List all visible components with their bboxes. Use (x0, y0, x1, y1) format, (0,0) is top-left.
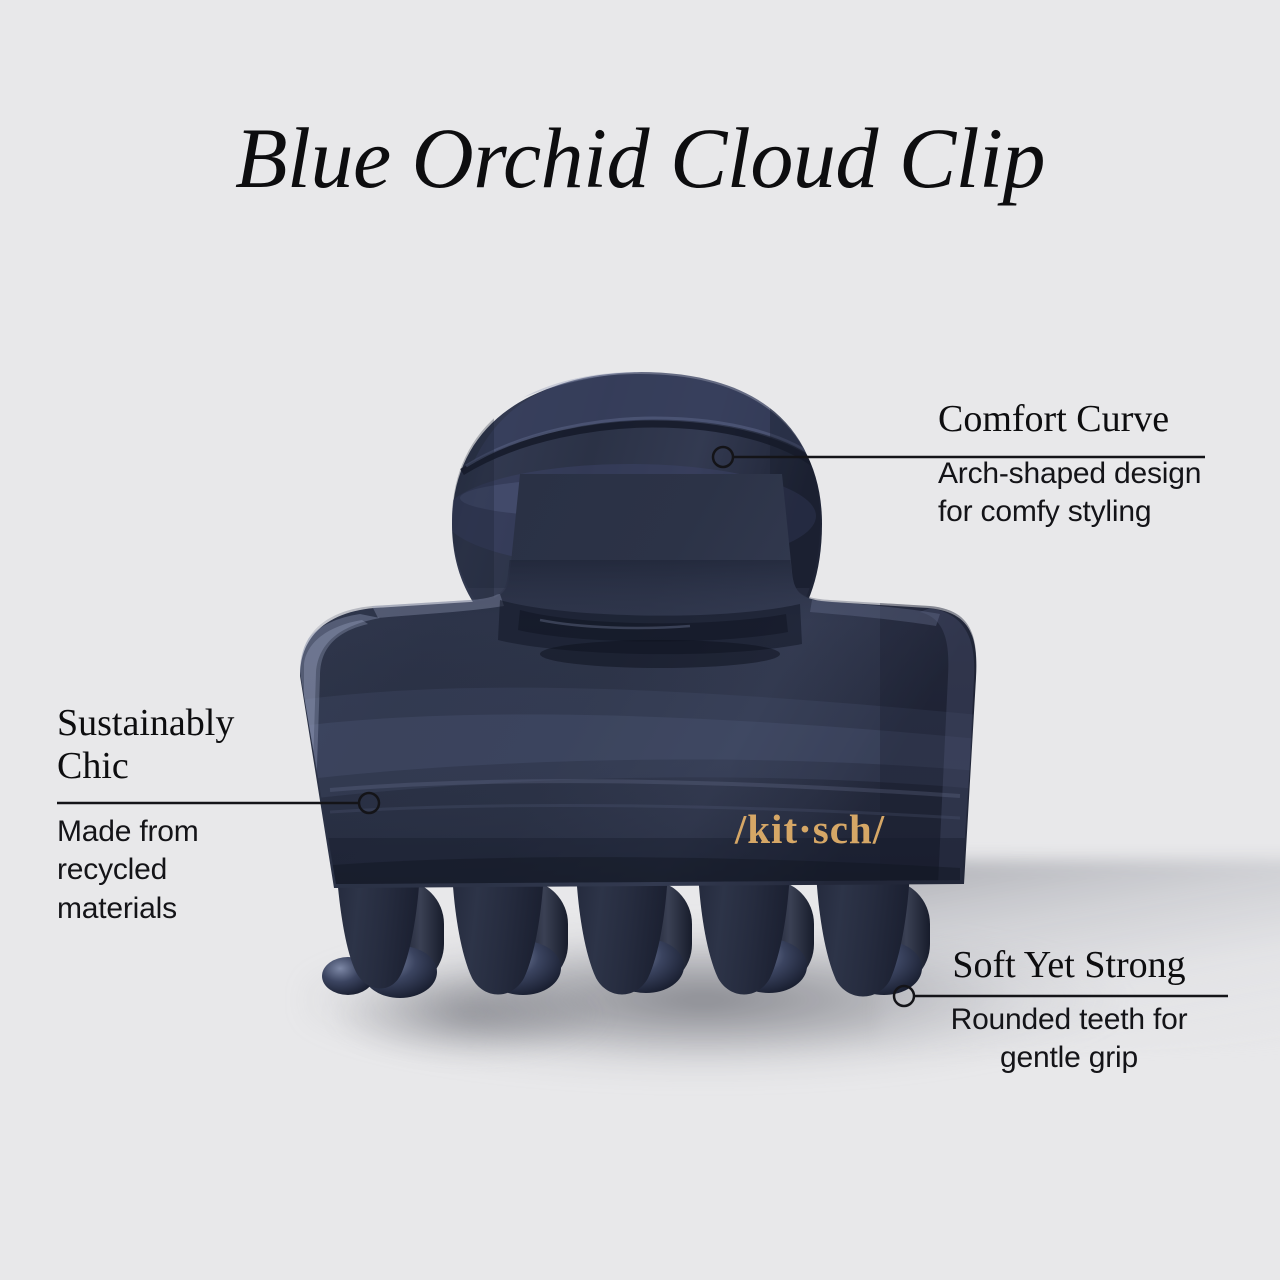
callout-body: Made from recycled materials (57, 813, 237, 928)
callout-comfort-curve: Comfort Curve Arch-shaped design for com… (938, 398, 1238, 531)
brand-logo: /kit·sch/ (734, 806, 885, 852)
infographic-canvas: Blue Orchid Cloud Clip (0, 0, 1280, 1280)
product-body: /kit·sch/ (280, 474, 1000, 920)
callout-heading: Comfort Curve (938, 398, 1238, 441)
callout-soft-yet-strong: Soft Yet Strong Rounded teeth for gentle… (904, 944, 1234, 1077)
callout-body: Rounded teeth for gentle grip (949, 1001, 1189, 1078)
callout-heading: Sustainably Chic (57, 702, 287, 787)
callout-body: Arch-shaped design for comfy styling (938, 455, 1238, 532)
callout-sustainably-chic: Sustainably Chic Made from recycled mate… (57, 702, 367, 928)
product-image: /kit·sch/ (0, 0, 1280, 1280)
callout-heading: Soft Yet Strong (904, 944, 1234, 987)
